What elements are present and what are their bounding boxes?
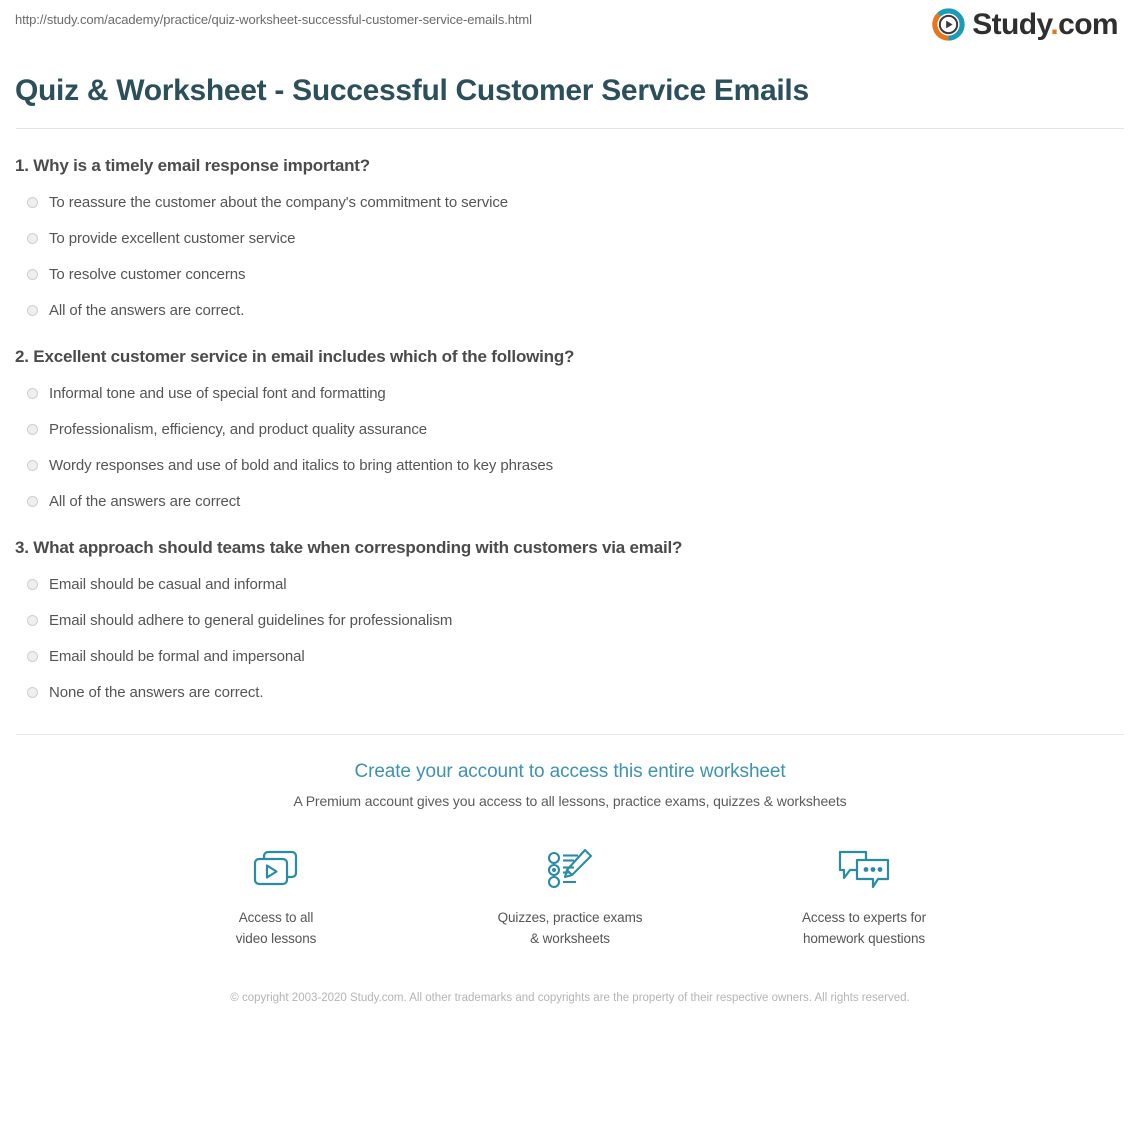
feature-label-line2: homework questions — [803, 931, 925, 946]
answer-label: All of the answers are correct — [49, 493, 240, 511]
answer-label: Informal tone and use of special font an… — [49, 385, 386, 403]
answer-list: Informal tone and use of special font an… — [15, 385, 1125, 511]
answer-label: To resolve customer concerns — [49, 266, 245, 284]
page-title: Quiz & Worksheet - Successful Customer S… — [0, 60, 1140, 110]
feature-label-line2: video lessons — [236, 931, 317, 946]
feature-quizzes-worksheets: Quizzes, practice exams & worksheets — [495, 842, 645, 949]
brand-name-text: Study — [972, 8, 1050, 41]
upsell-section: Create your account to access this entir… — [0, 735, 1140, 949]
answer-option[interactable]: To reassure the customer about the compa… — [15, 194, 1125, 212]
radio-button-icon[interactable] — [27, 651, 38, 662]
radio-button-icon[interactable] — [27, 615, 38, 626]
answer-label: Email should adhere to general guideline… — [49, 612, 452, 630]
video-lessons-icon — [201, 842, 351, 897]
question-block-1: 1. Why is a timely email response import… — [15, 155, 1125, 320]
radio-button-icon[interactable] — [27, 579, 38, 590]
answer-option[interactable]: To provide excellent customer service — [15, 230, 1125, 248]
feature-list: Access to all video lessons — [0, 842, 1140, 949]
answer-option[interactable]: Informal tone and use of special font an… — [15, 385, 1125, 403]
answer-list: Email should be casual and informal Emai… — [15, 576, 1125, 702]
brand-dot: . — [1050, 8, 1058, 41]
feature-label-line1: Access to all — [239, 910, 313, 925]
feature-label-line1: Quizzes, practice exams — [498, 910, 643, 925]
answer-label: To reassure the customer about the compa… — [49, 194, 508, 212]
quiz-pencil-icon — [495, 842, 645, 897]
answer-option[interactable]: Email should be formal and impersonal — [15, 648, 1125, 666]
answer-label: Wordy responses and use of bold and ital… — [49, 457, 553, 475]
questions-container: 1. Why is a timely email response import… — [0, 155, 1140, 702]
feature-label-line2: & worksheets — [530, 931, 610, 946]
brand-wordmark: Study.com — [972, 10, 1118, 40]
answer-option[interactable]: To resolve customer concerns — [15, 266, 1125, 284]
answer-label: Email should be casual and informal — [49, 576, 286, 594]
url-bar-text: http://study.com/academy/practice/quiz-w… — [15, 12, 532, 27]
radio-button-icon[interactable] — [27, 424, 38, 435]
answer-label: Professionalism, efficiency, and product… — [49, 421, 427, 439]
answer-option[interactable]: All of the answers are correct. — [15, 302, 1125, 320]
brand-tld-text: com — [1058, 8, 1118, 41]
radio-button-icon[interactable] — [27, 233, 38, 244]
answer-option[interactable]: All of the answers are correct — [15, 493, 1125, 511]
question-block-3: 3. What approach should teams take when … — [15, 537, 1125, 702]
copyright-text: © copyright 2003-2020 Study.com. All oth… — [220, 989, 920, 1007]
answer-label: None of the answers are correct. — [49, 684, 263, 702]
answer-option[interactable]: Professionalism, efficiency, and product… — [15, 421, 1125, 439]
radio-button-icon[interactable] — [27, 269, 38, 280]
chat-bubbles-icon — [789, 842, 939, 897]
question-text: 2. Excellent customer service in email i… — [15, 346, 1125, 368]
radio-button-icon[interactable] — [27, 496, 38, 507]
feature-label-line1: Access to experts for — [802, 910, 926, 925]
answer-label: To provide excellent customer service — [49, 230, 295, 248]
feature-label: Quizzes, practice exams & worksheets — [495, 908, 645, 949]
feature-label: Access to experts for homework questions — [789, 908, 939, 949]
play-circle-icon — [932, 8, 965, 41]
answer-label: All of the answers are correct. — [49, 302, 244, 320]
title-divider — [16, 128, 1124, 129]
radio-button-icon[interactable] — [27, 388, 38, 399]
answer-list: To reassure the customer about the compa… — [15, 194, 1125, 320]
question-block-2: 2. Excellent customer service in email i… — [15, 346, 1125, 511]
study-com-logo[interactable]: Study.com — [932, 8, 1118, 41]
question-text: 3. What approach should teams take when … — [15, 537, 1125, 559]
premium-subtext: A Premium account gives you access to al… — [0, 793, 1140, 809]
feature-expert-help: Access to experts for homework questions — [789, 842, 939, 949]
create-account-link[interactable]: Create your account to access this entir… — [354, 760, 785, 785]
radio-button-icon[interactable] — [27, 197, 38, 208]
feature-label: Access to all video lessons — [201, 908, 351, 949]
page-header: http://study.com/academy/practice/quiz-w… — [0, 0, 1140, 60]
answer-option[interactable]: Wordy responses and use of bold and ital… — [15, 457, 1125, 475]
radio-button-icon[interactable] — [27, 460, 38, 471]
radio-button-icon[interactable] — [27, 305, 38, 316]
answer-option[interactable]: None of the answers are correct. — [15, 684, 1125, 702]
question-text: 1. Why is a timely email response import… — [15, 155, 1125, 177]
answer-option[interactable]: Email should be casual and informal — [15, 576, 1125, 594]
answer-label: Email should be formal and impersonal — [49, 648, 305, 666]
radio-button-icon[interactable] — [27, 687, 38, 698]
feature-video-lessons: Access to all video lessons — [201, 842, 351, 949]
answer-option[interactable]: Email should adhere to general guideline… — [15, 612, 1125, 630]
